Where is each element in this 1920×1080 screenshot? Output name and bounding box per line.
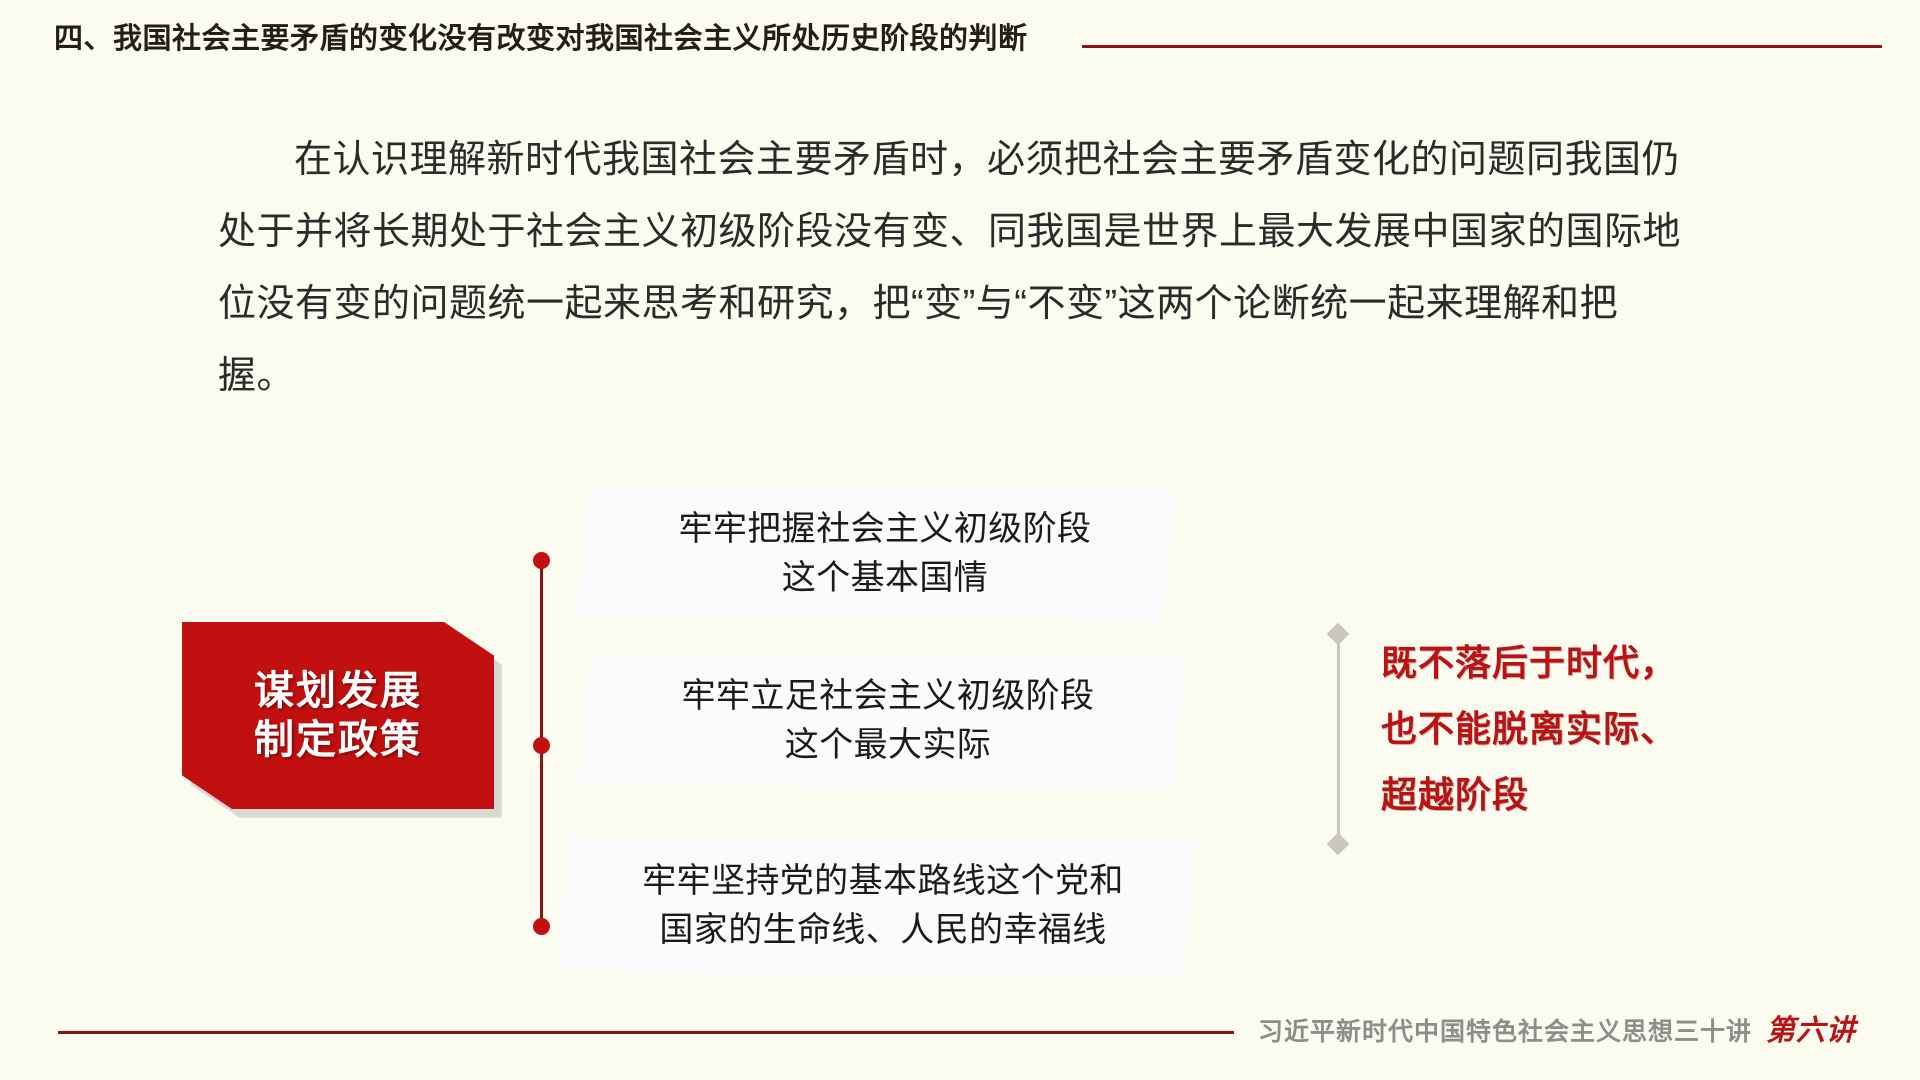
callout-text-block: 既不落后于时代， 也不能脱离实际、 超越阶段 — [1381, 630, 1801, 828]
content-card-3: 牢牢坚持党的基本路线这个党和 国家的生命线、人民的幸福线 — [556, 836, 1196, 976]
timeline-dot-3 — [533, 918, 550, 935]
callout-line-3: 超越阶段 — [1381, 762, 1801, 828]
card-1-line-2: 这个基本国情 — [782, 554, 988, 603]
badge-line-1: 谋划发展 — [254, 667, 422, 716]
red-badge: 谋划发展 制定政策 — [182, 622, 502, 818]
timeline-dot-1 — [533, 552, 550, 569]
footer-lecture-number: 第六讲 — [1766, 1010, 1856, 1050]
callout-line-2: 也不能脱离实际、 — [1381, 696, 1801, 762]
footer-brand-text: 习近平新时代中国特色社会主义思想三十讲 — [1258, 1015, 1752, 1049]
timeline-connector-upper — [540, 560, 543, 763]
diamond-icon-bottom — [1327, 833, 1350, 856]
badge-body: 谋划发展 制定政策 — [182, 622, 494, 809]
card-2-line-1: 牢牢立足社会主义初级阶段 — [682, 672, 1095, 721]
header-divider-line — [1082, 45, 1882, 48]
page-title: 四、我国社会主要矛盾的变化没有改变对我国社会主义所处历史阶段的判断 — [54, 19, 1028, 59]
body-paragraph: 在认识理解新时代我国社会主要矛盾时，必须把社会主要矛盾变化的问题同我国仍处于并将… — [218, 124, 1688, 412]
slide-canvas: 四、我国社会主要矛盾的变化没有改变对我国社会主义所处历史阶段的判断 在认识理解新… — [0, 0, 1920, 1080]
badge-line-2: 制定政策 — [254, 716, 422, 765]
timeline-dot-2 — [533, 737, 550, 754]
content-card-2: 牢牢立足社会主义初级阶段 这个最大实际 — [578, 653, 1186, 789]
content-card-1: 牢牢把握社会主义初级阶段 这个基本国情 — [576, 486, 1176, 621]
card-1-line-1: 牢牢把握社会主义初级阶段 — [679, 505, 1092, 554]
card-2-line-2: 这个最大实际 — [785, 721, 991, 770]
callout-divider-line — [1337, 633, 1340, 843]
slide-header: 四、我国社会主要矛盾的变化没有改变对我国社会主义所处历史阶段的判断 — [0, 0, 1920, 78]
card-3-line-1: 牢牢坚持党的基本路线这个党和 — [642, 857, 1124, 906]
callout-line-1: 既不落后于时代， — [1381, 630, 1801, 696]
card-3-line-2: 国家的生命线、人民的幸福线 — [659, 906, 1106, 955]
diamond-icon-top — [1327, 623, 1350, 646]
timeline-connector-lower — [540, 745, 543, 927]
paragraph-line-1: 在认识理解新时代我国社会主要矛盾时，必须把社会主要矛盾变化的问题同我 — [294, 139, 1603, 181]
footer-divider-line — [58, 1031, 1234, 1034]
